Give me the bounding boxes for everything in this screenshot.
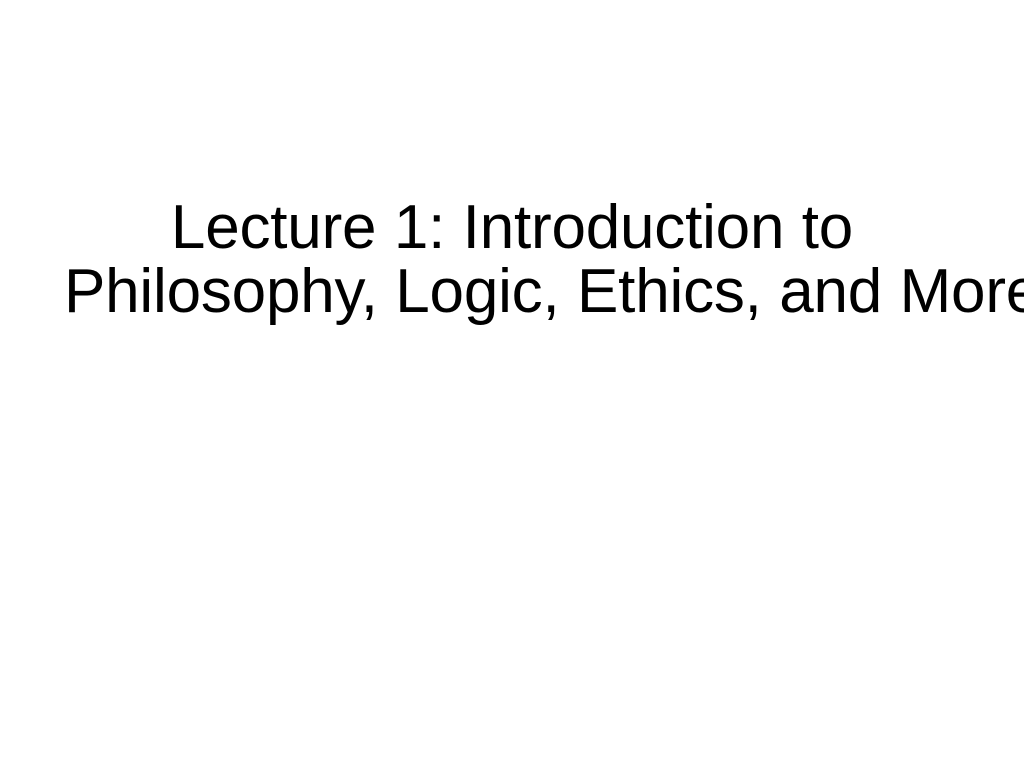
page-title: Lecture 1: Introduction to Philosophy, L…	[64, 196, 960, 324]
title-placeholder[interactable]: Lecture 1: Introduction to Philosophy, L…	[64, 196, 960, 436]
title-line-1: Lecture 1: Introduction to	[64, 196, 960, 260]
slide-canvas: Lecture 1: Introduction to Philosophy, L…	[0, 0, 1024, 768]
title-line-2: Philosophy, Logic, Ethics, and More	[64, 260, 960, 324]
